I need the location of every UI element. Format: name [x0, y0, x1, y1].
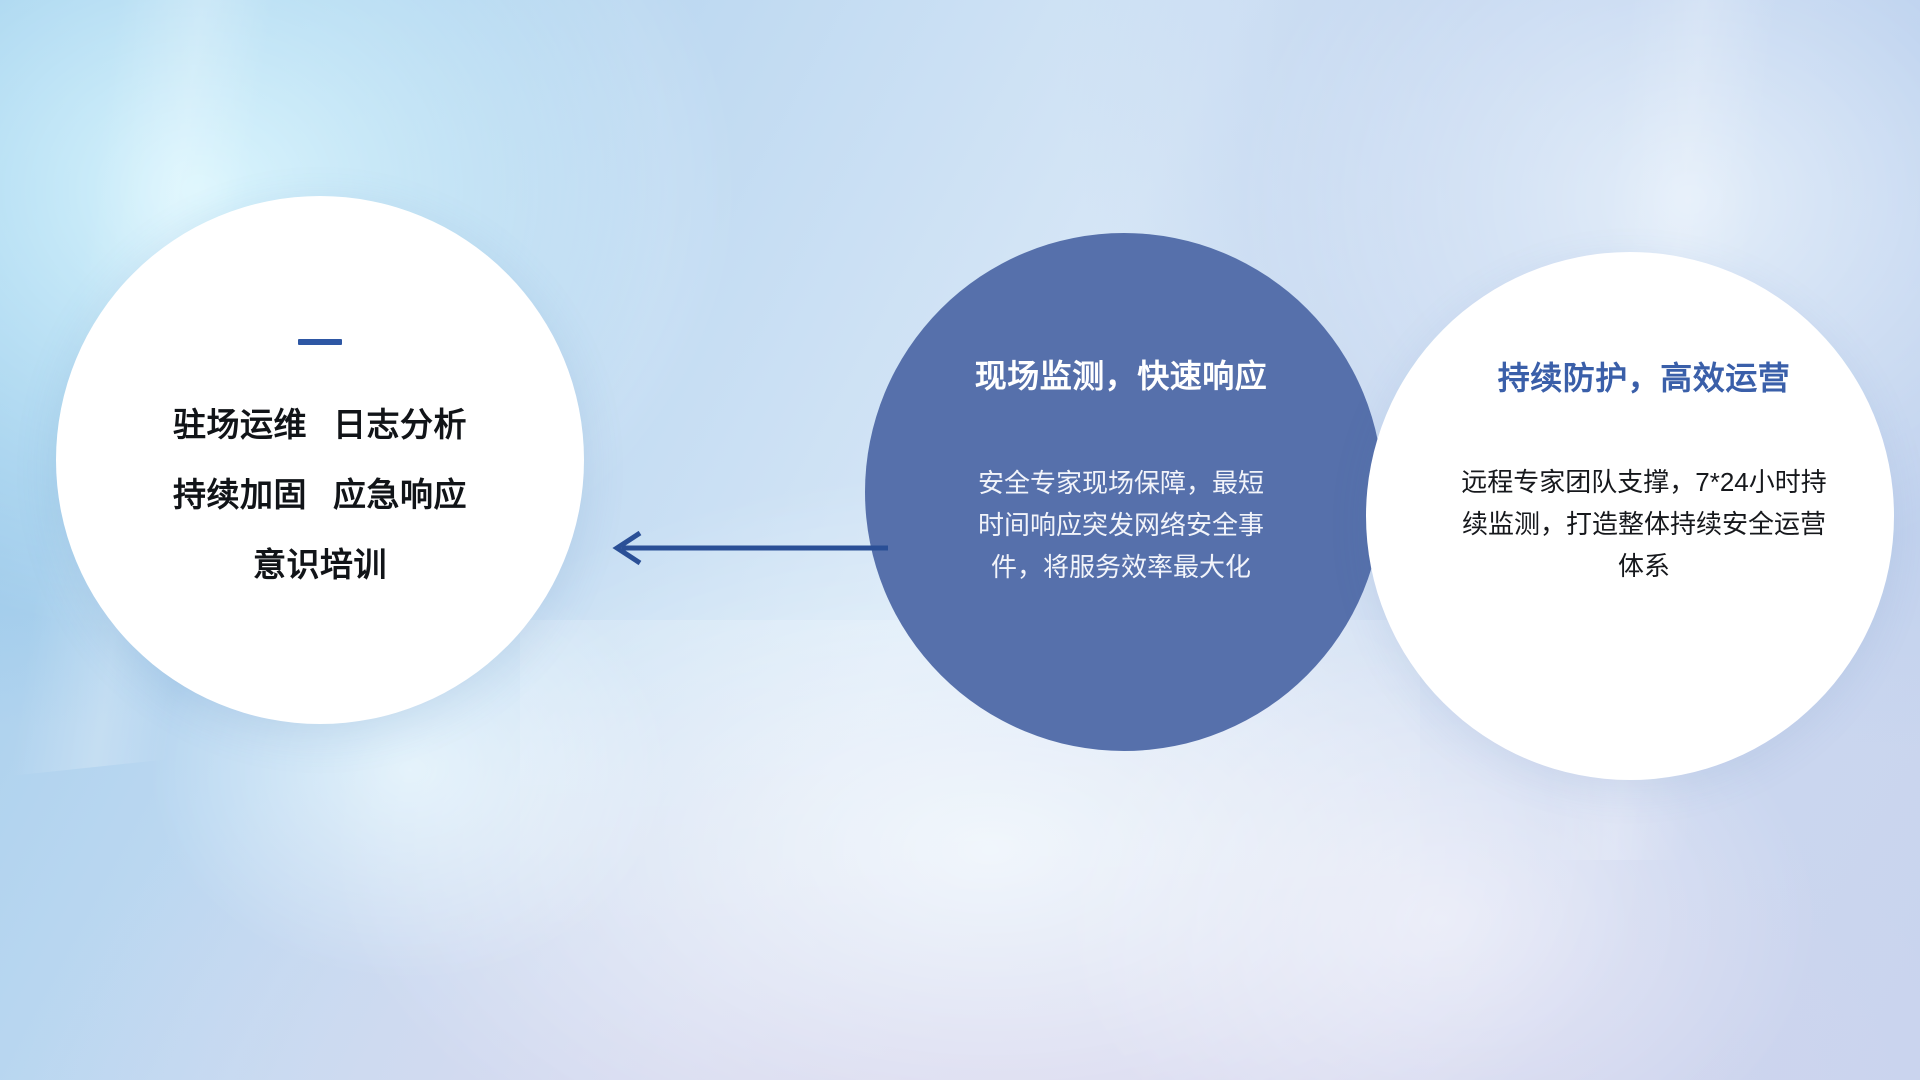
onsite-monitoring-content: 现场监测，快速响应 安全专家现场保障，最短时间响应突发网络安全事件，将服务效率最… — [865, 233, 1383, 751]
capability-row: 驻场运维日志分析 — [173, 408, 467, 441]
onsite-monitoring-body: 安全专家现场保障，最短时间响应突发网络安全事件，将服务效率最大化 — [966, 462, 1276, 588]
service-capabilities-circle[interactable]: 驻场运维日志分析 持续加固应急响应 意识培训 — [56, 196, 584, 724]
divider-dash — [298, 339, 342, 345]
continuous-protection-content: 持续防护，高效运营 远程专家团队支撑，7*24小时持续监测，打造整体持续安全运营… — [1366, 252, 1894, 780]
slide-canvas: 现场监测，快速响应 安全专家现场保障，最短时间响应突发网络安全事件，将服务效率最… — [0, 0, 1920, 1080]
capability-label: 意识培训 — [253, 546, 387, 583]
capability-row: 意识培训 — [253, 548, 387, 581]
onsite-monitoring-circle[interactable]: 现场监测，快速响应 安全专家现场保障，最短时间响应突发网络安全事件，将服务效率最… — [865, 233, 1383, 751]
capability-label: 应急响应 — [333, 476, 467, 513]
continuous-protection-body: 远程专家团队支撑，7*24小时持续监测，打造整体持续安全运营体系 — [1458, 461, 1830, 587]
capability-label: 持续加固 — [173, 476, 307, 513]
service-capabilities-content: 驻场运维日志分析 持续加固应急响应 意识培训 — [56, 196, 584, 724]
onsite-monitoring-title: 现场监测，快速响应 — [975, 351, 1268, 397]
left-arrow-icon — [600, 524, 890, 572]
continuous-protection-circle[interactable]: 持续防护，高效运营 远程专家团队支撑，7*24小时持续监测，打造整体持续安全运营… — [1366, 252, 1894, 780]
capability-label: 日志分析 — [333, 406, 467, 443]
capability-row: 持续加固应急响应 — [173, 478, 467, 511]
capability-label: 驻场运维 — [173, 406, 307, 443]
continuous-protection-title: 持续防护，高效运营 — [1498, 353, 1791, 399]
